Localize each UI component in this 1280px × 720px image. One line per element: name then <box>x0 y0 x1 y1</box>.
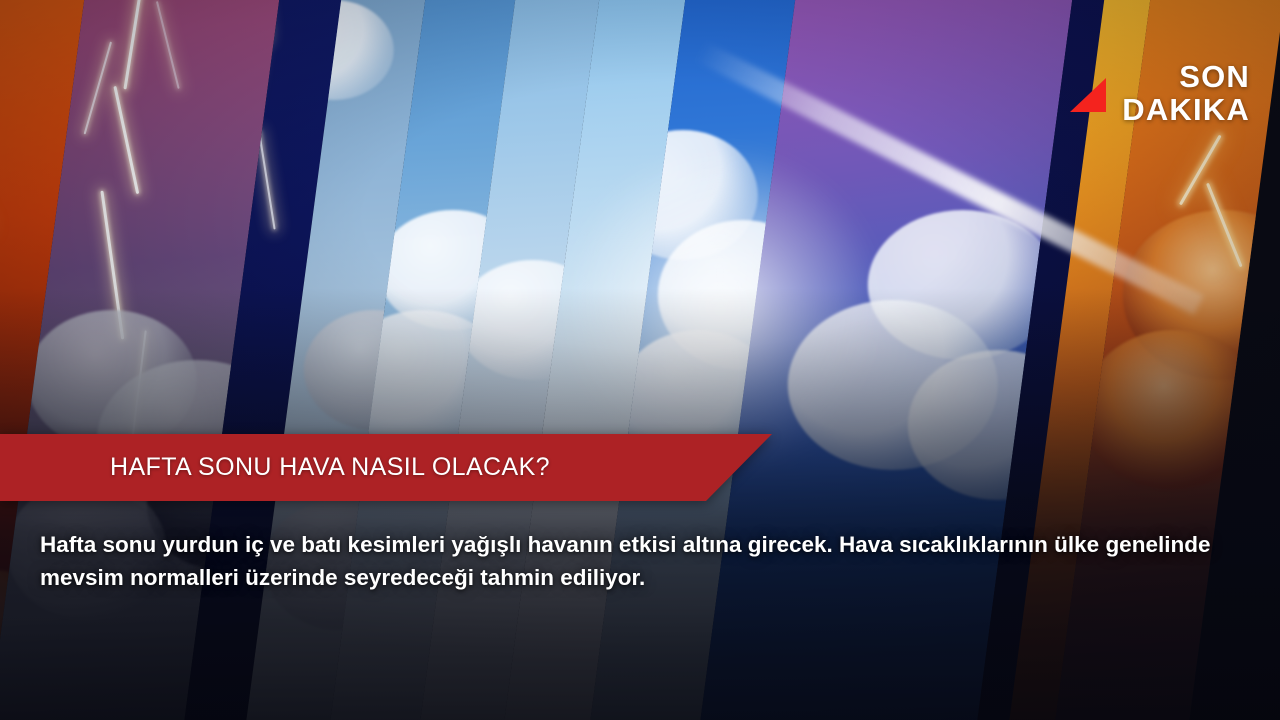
brand-logo: SON DAKIKA <box>1068 60 1250 127</box>
headline-banner: HAFTA SONU HAVA NASIL OLACAK? <box>0 434 772 501</box>
brand-logo-line1: SON <box>1122 60 1250 93</box>
red-triangle-mark-icon <box>1068 76 1106 114</box>
article-summary: Hafta sonu yurdun iç ve batı kesimleri y… <box>40 528 1252 594</box>
brand-logo-line2: DAKIKA <box>1122 93 1250 126</box>
page-title: HAFTA SONU HAVA NASIL OLACAK? <box>110 434 550 501</box>
brand-logo-text: SON DAKIKA <box>1122 60 1250 127</box>
news-card: SON DAKIKA HAFTA SONU HAVA NASIL OLACAK?… <box>0 0 1280 720</box>
